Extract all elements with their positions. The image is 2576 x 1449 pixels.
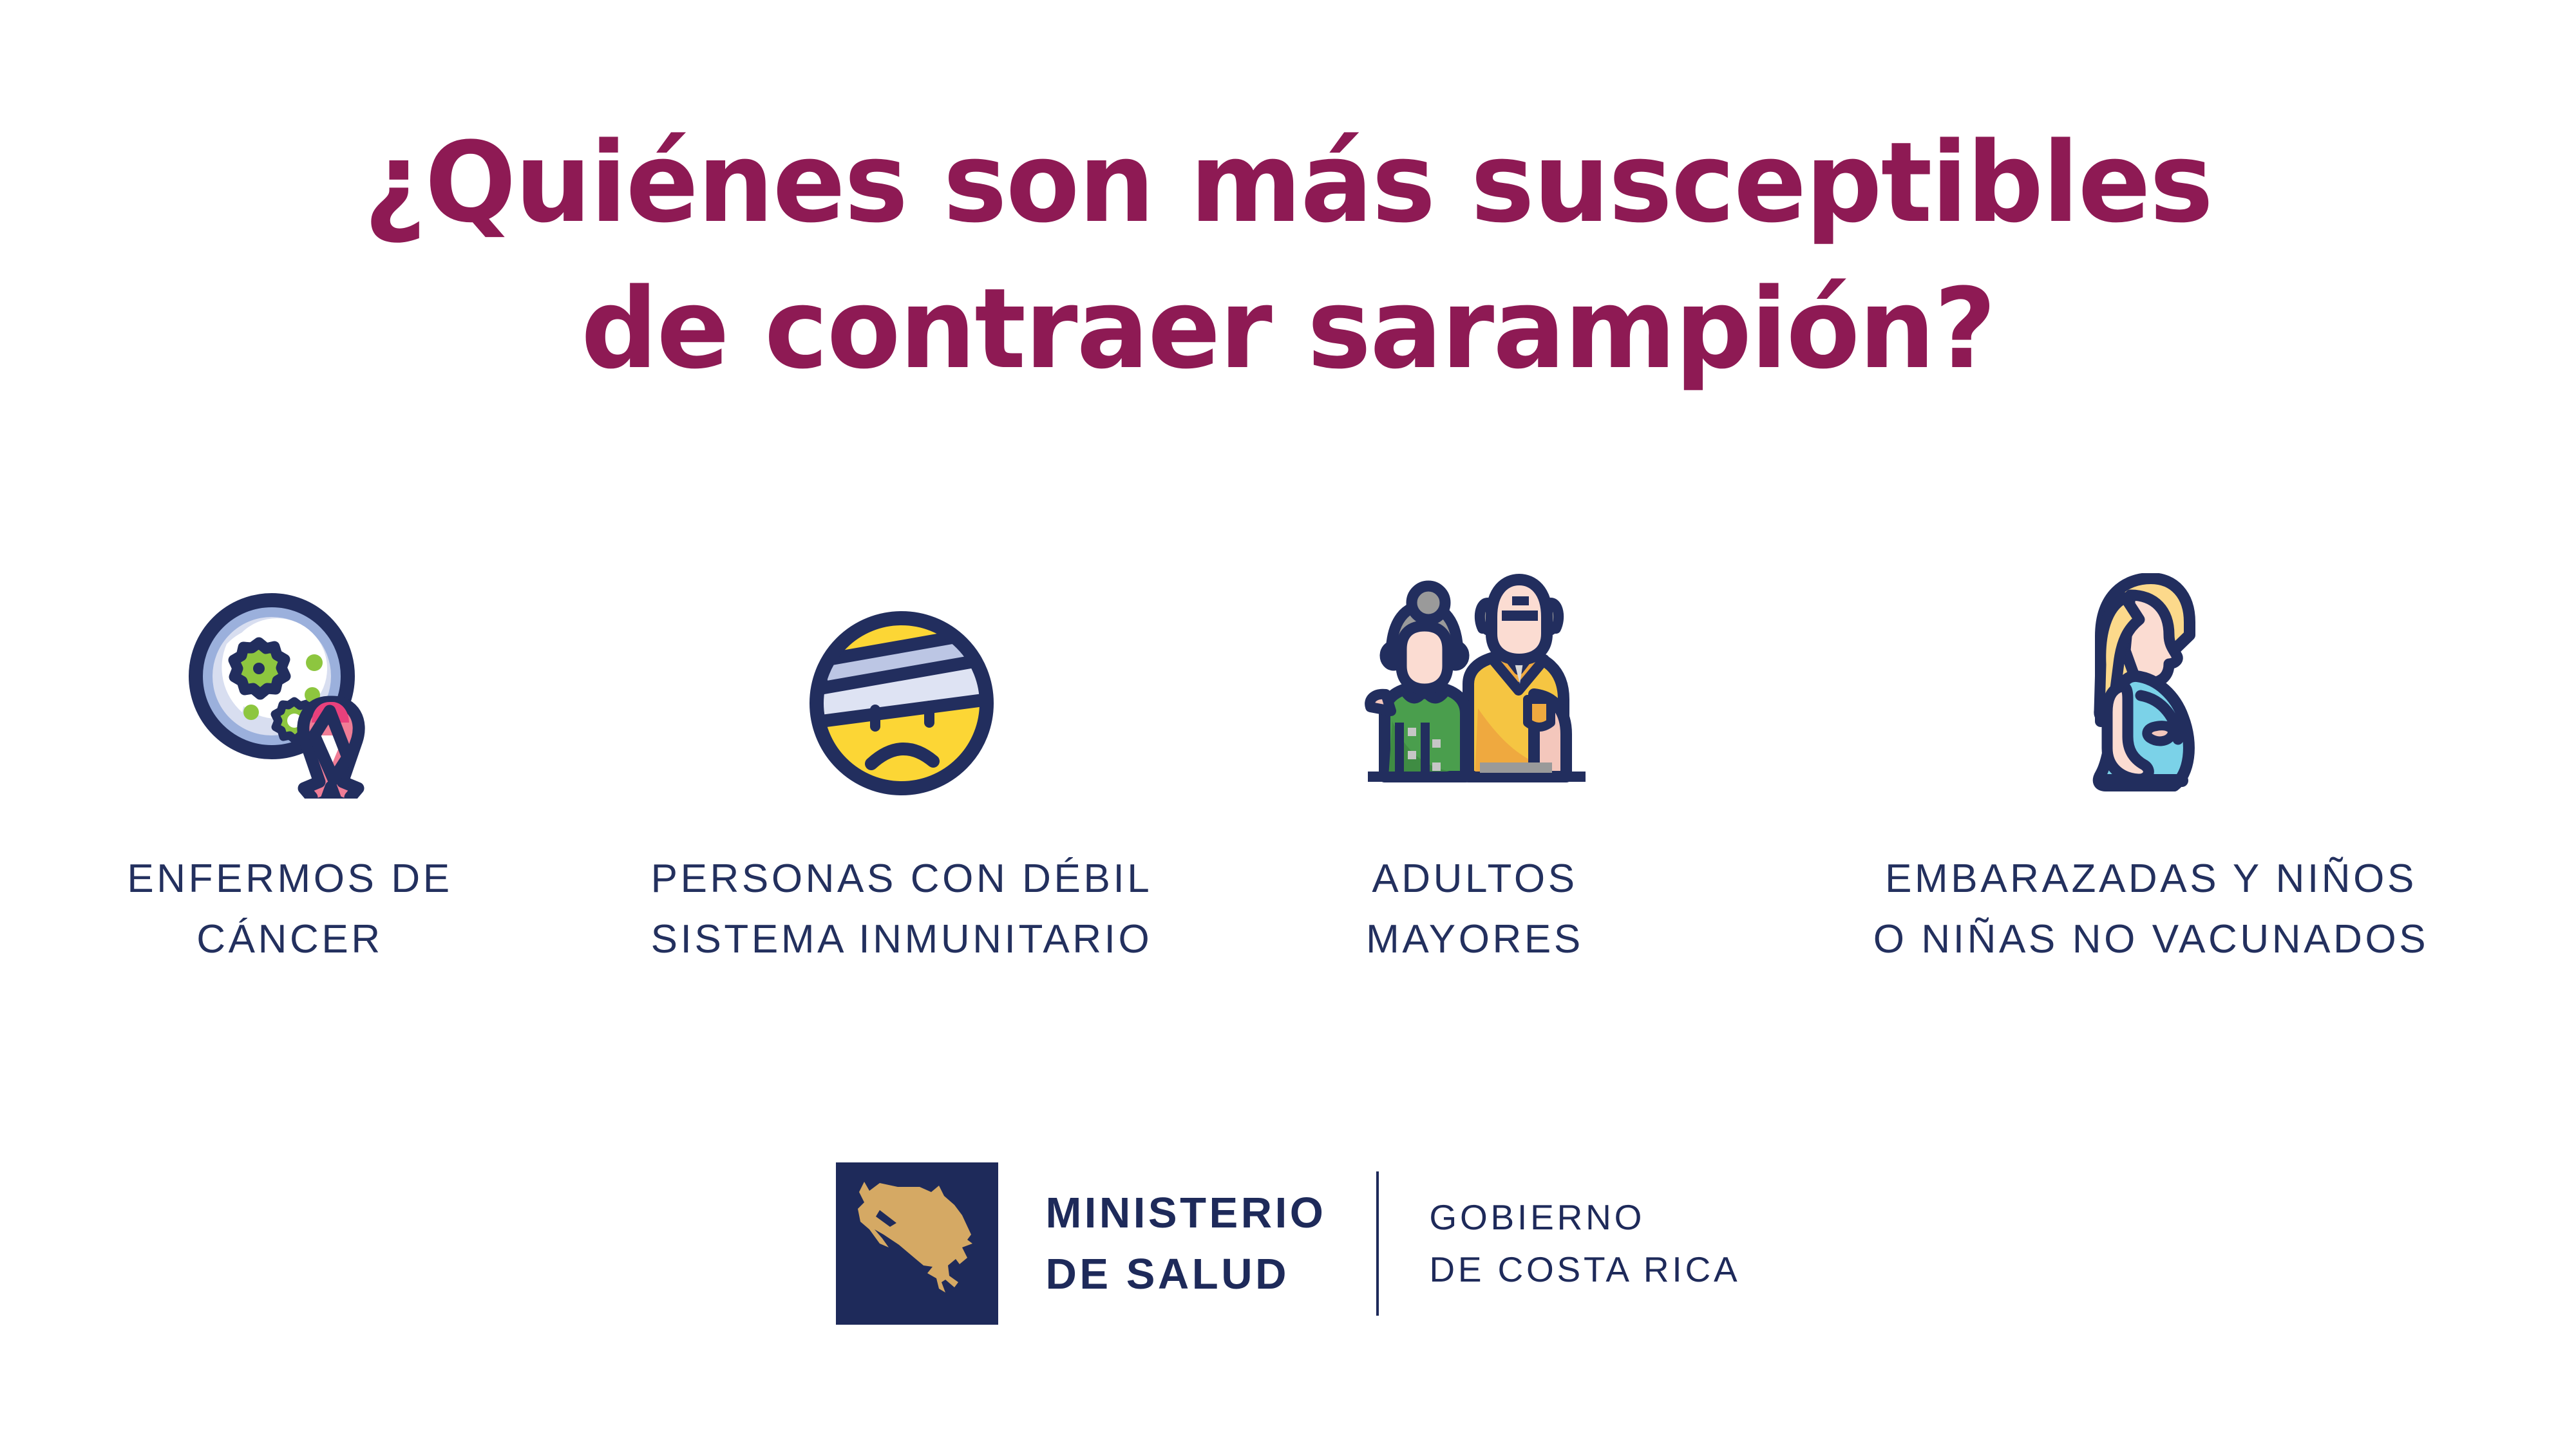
title-line-2: de contraer sarampión? [39, 256, 2537, 402]
logo-divider [1376, 1171, 1379, 1316]
page-title: ¿Quiénes son más susceptibles de contrae… [0, 109, 2576, 402]
group-label-pregnant: EMBARAZADAS Y NIÑOS O NIÑAS NO VACUNADOS [1873, 849, 2429, 970]
ministry-line-2: DE SALUD [1046, 1244, 1327, 1305]
group-label-older-adults: ADULTOS MAYORES [1366, 849, 1584, 970]
ministry-line-1: MINISTERIO [1046, 1182, 1327, 1244]
group-item-immune: PERSONAS CON DÉBIL SISTEMA INMUNITARIO [580, 567, 1224, 970]
costa-rica-map-icon [836, 1162, 998, 1325]
government-name: GOBIERNO DE COSTA RICA [1429, 1191, 1740, 1296]
title-line-1: ¿Quiénes son más susceptibles [39, 109, 2537, 256]
gov-line-1: GOBIERNO [1429, 1191, 1740, 1244]
group-label-cancer: ENFERMOS DE CÁNCER [127, 849, 452, 970]
group-item-cancer: ENFERMOS DE CÁNCER [0, 567, 580, 970]
pregnant-woman-icon [2061, 567, 2241, 799]
footer-logo-lockup: MINISTERIO DE SALUD GOBIERNO DE COSTA RI… [0, 1162, 2576, 1325]
gov-line-2: DE COSTA RICA [1429, 1244, 1740, 1296]
group-item-pregnant: EMBARAZADAS Y NIÑOS O NIÑAS NO VACUNADOS [1726, 567, 2576, 970]
petri-dish-cancer-ribbon-icon [180, 567, 399, 799]
group-item-older-adults: ADULTOS MAYORES [1224, 567, 1726, 970]
group-label-immune: PERSONAS CON DÉBIL SISTEMA INMUNITARIO [651, 849, 1153, 970]
bandaged-sad-face-icon [795, 567, 1008, 799]
elderly-couple-icon [1359, 567, 1591, 799]
ministry-name: MINISTERIO DE SALUD [1046, 1182, 1327, 1305]
susceptible-groups-row: ENFERMOS DE CÁNCER [0, 567, 2576, 970]
